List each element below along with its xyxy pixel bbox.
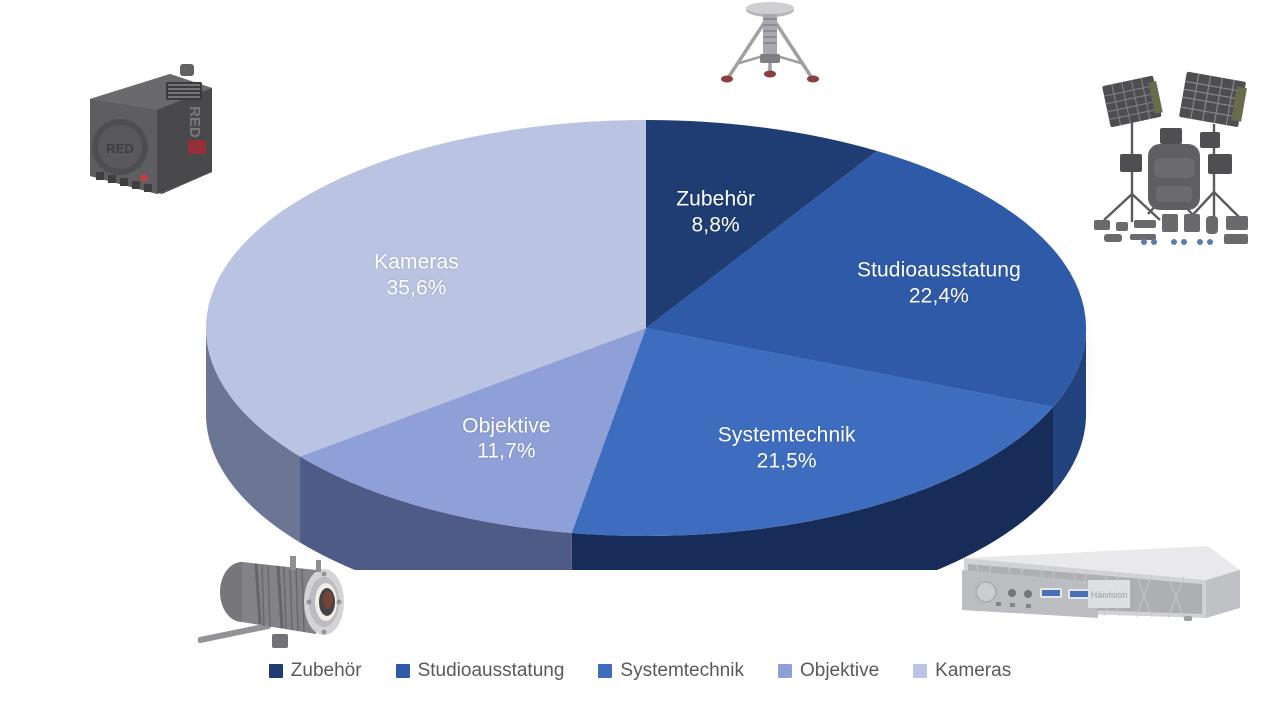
svg-text:Haivision: Haivision [1091,590,1128,600]
legend-label: Systemtechnik [620,660,744,682]
pie-chart: Zubehör 8,8% Studioausstatung 22,4% Syst… [196,70,1096,570]
legend-label: Zubehör [291,660,362,682]
legend-swatch-icon [913,664,927,678]
legend-swatch-icon [598,664,612,678]
legend-swatch-icon [269,664,283,678]
legend-label: Kameras [935,660,1011,682]
chart-canvas: Zubehör 8,8% Studioausstatung 22,4% Syst… [0,0,1280,720]
svg-text:RED: RED [186,106,203,138]
legend-label: Studioausstatung [418,660,565,682]
svg-text:RED: RED [106,141,133,156]
studio-lighting-kit-photo [1082,62,1268,258]
chart-legend: Zubehör Studioausstatung Systemtechnik O… [0,660,1280,682]
pie-top-faces [206,120,1086,536]
legend-item-kameras[interactable]: Kameras [913,660,1011,682]
cinema-camera-photo: RED RED [62,44,227,209]
legend-item-studioausstatung[interactable]: Studioausstatung [396,660,565,682]
legend-item-objektive[interactable]: Objektive [778,660,879,682]
broadcast-zoom-lens-photo [198,548,366,660]
legend-item-systemtechnik[interactable]: Systemtechnik [598,660,744,682]
legend-swatch-icon [778,664,792,678]
camera-tripod-photo [706,0,834,86]
encoder-unit-photo: Haivision [948,540,1244,644]
legend-swatch-icon [396,664,410,678]
legend-item-zubehoer[interactable]: Zubehör [269,660,362,682]
legend-label: Objektive [800,660,879,682]
pie-chart-svg [196,70,1096,570]
